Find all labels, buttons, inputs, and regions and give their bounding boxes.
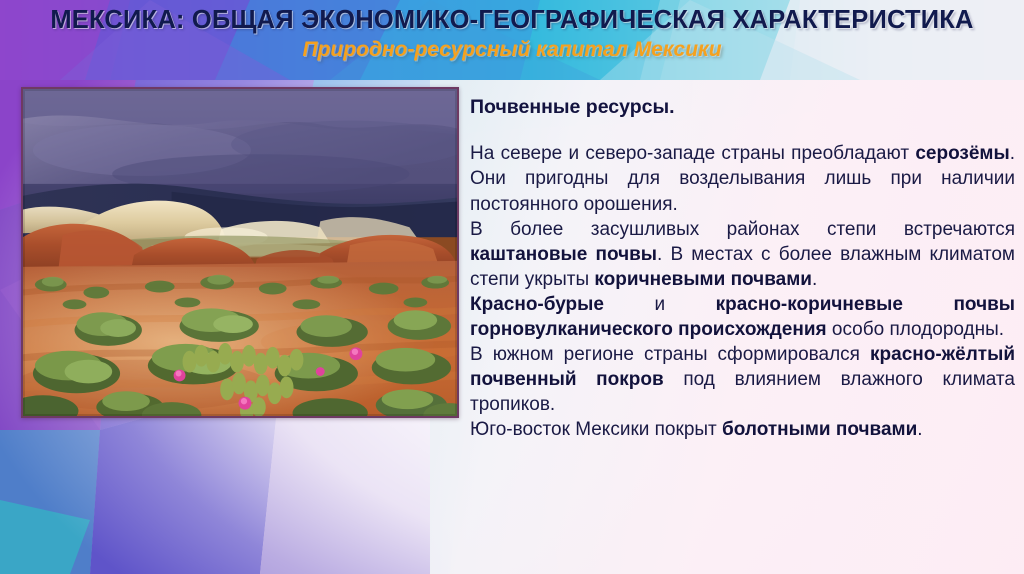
page-title: МЕКСИКА: ОБЩАЯ ЭКОНОМИКО-ГЕОГРАФИЧЕСКАЯ …	[0, 0, 1024, 35]
paragraph-text: .	[917, 419, 922, 440]
paragraph-text: Юго-восток Мексики покрыт	[470, 419, 722, 440]
content-paragraph: Юго-восток Мексики покрыт болотными почв…	[470, 417, 1015, 442]
emphasized-term: серозёмы	[915, 143, 1009, 164]
slide-header: МЕКСИКА: ОБЩАЯ ЭКОНОМИКО-ГЕОГРАФИЧЕСКАЯ …	[0, 0, 1024, 80]
paragraph-text: особо плодородны.	[827, 319, 1004, 340]
emphasized-term: каштановые почвы	[470, 244, 657, 265]
emphasized-term: Красно-бурые	[470, 294, 604, 315]
landscape-photo	[21, 87, 459, 418]
slide: МЕКСИКА: ОБЩАЯ ЭКОНОМИКО-ГЕОГРАФИЧЕСКАЯ …	[0, 0, 1024, 574]
content-paragraph: На севере и северо-западе страны преобла…	[470, 141, 1015, 216]
paragraph-text: .	[812, 269, 817, 290]
content-paragraph: Красно-бурые и красно-коричневые почвы г…	[470, 292, 1015, 342]
content-heading: Почвенные ресурсы.	[470, 96, 1015, 119]
page-subtitle: Природно-ресурсный капитал Мексики	[0, 35, 1024, 62]
content-paragraph: В южном регионе страны сформировался кра…	[470, 342, 1015, 417]
content-paragraph: В более засушливых районах степи встреча…	[470, 217, 1015, 292]
paragraph-text: В более засушливых районах степи встреча…	[470, 219, 1015, 240]
paragraph-text: В южном регионе страны сформировался	[470, 344, 870, 365]
content-column: Почвенные ресурсы. На севере и северо-за…	[470, 96, 1015, 443]
content-paragraph-list: На севере и северо-западе страны преобла…	[470, 141, 1015, 442]
paragraph-text: и	[604, 294, 716, 315]
paragraph-text: На севере и северо-западе страны преобла…	[470, 143, 915, 164]
emphasized-term: болотными почвами	[722, 419, 917, 440]
emphasized-term: коричневыми почвами	[594, 269, 812, 290]
